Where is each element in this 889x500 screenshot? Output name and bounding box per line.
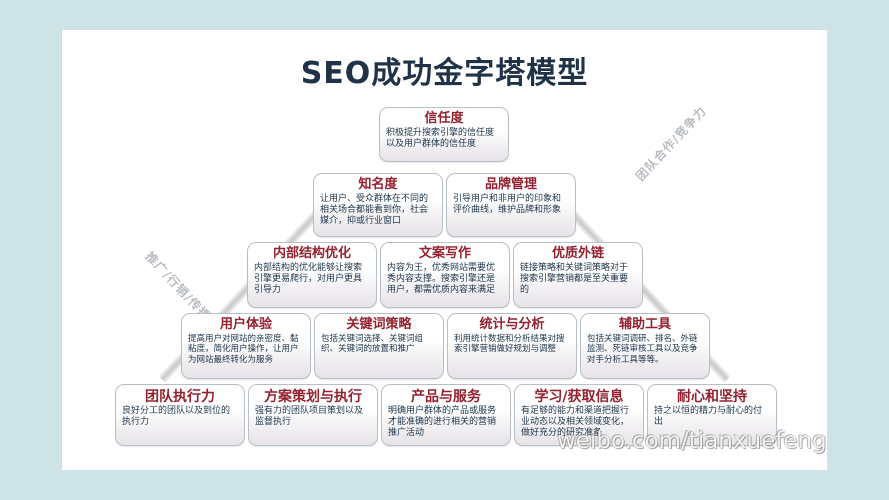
box-title: 辅助工具: [587, 318, 703, 333]
box-title: 用户体验: [188, 318, 304, 333]
box-body: 让用户、受众群体在不同的相关场合都能看到你，社会媒介，抑或行业窗口: [320, 194, 436, 227]
box-body: 包括关键词选择、关键词组织、关键词的放置和推广: [321, 334, 437, 355]
pyramid-box-copywriting[interactable]: 文案写作 内容为王，优秀网站需要优秀内容支撑。搜索引擎还是用户，都需优质内容来满…: [380, 242, 510, 308]
box-title: 文案写作: [387, 247, 503, 262]
box-title: 团队执行力: [122, 389, 238, 405]
box-body: 良好分工的团队以及到位的执行力: [122, 406, 238, 428]
slide-canvas: SEO成功金字塔模型 推广/行销/传播 团队合作/竞争力 信任度 积极提升搜索引…: [62, 30, 827, 470]
pyramid-box-statistics-analysis[interactable]: 统计与分析 利用统计数据和分析结果对搜索引擎营销做好规划与调整: [447, 313, 577, 379]
pyramid-box-quality-backlinks[interactable]: 优质外链 链接策略和关键词策略对于搜索引擎营销都是至关重要的: [513, 242, 643, 308]
box-title: 知名度: [320, 178, 436, 193]
box-body: 内容为王，优秀网站需要优秀内容支撑。搜索引擎还是用户，都需优质内容来满足: [387, 263, 503, 296]
box-body: 强有力的团队项目策划以及监督执行: [255, 406, 371, 428]
page-title: SEO成功金字塔模型: [62, 48, 827, 92]
box-title: 产品与服务: [388, 389, 504, 405]
box-title: 统计与分析: [454, 318, 570, 333]
box-title: 优质外链: [520, 247, 636, 262]
box-title: 信任度: [386, 112, 502, 127]
box-body: 有足够的能力和渠道把握行业动态以及相关领域变化，做好充分的研究准备: [521, 406, 637, 439]
pyramid-box-internal-structure[interactable]: 内部结构优化 内部结构的优化能够让搜索引擎更易爬行，对用户更具引导力: [247, 242, 377, 308]
box-body: 持之以恒的精力与耐心的付出: [654, 406, 770, 428]
box-body: 内部结构的优化能够让搜索引擎更易爬行，对用户更具引导力: [254, 263, 370, 296]
pyramid-box-team-execution[interactable]: 团队执行力 良好分工的团队以及到位的执行力: [115, 384, 245, 446]
box-title: 耐心和坚持: [654, 389, 770, 405]
pyramid-box-supporting-tools[interactable]: 辅助工具 包括关键词调研、排名、外链监测、死链审核工具以及竞争对手分析工具等等。: [580, 313, 710, 379]
pyramid-box-keyword-strategy[interactable]: 关键词策略 包括关键词选择、关键词组织、关键词的放置和推广: [314, 313, 444, 379]
box-title: 方案策划与执行: [255, 389, 371, 405]
box-body: 提高用户对网站的亲密度、黏粘度，简化用户操作，让用户为网站最终转化为服务: [188, 334, 304, 365]
pyramid-box-product-service[interactable]: 产品与服务 明确用户群体的产品或服务才能准确的进行相关的营销推广活动: [381, 384, 511, 446]
box-title: 学习/获取信息: [521, 389, 637, 405]
pyramid-box-trust[interactable]: 信任度 积极提升搜索引擎的信任度以及用户群体的信任度: [379, 107, 509, 162]
box-body: 积极提升搜索引擎的信任度以及用户群体的信任度: [386, 128, 502, 150]
box-title: 关键词策略: [321, 318, 437, 333]
box-body: 链接策略和关键词策略对于搜索引擎营销都是至关重要的: [520, 263, 636, 296]
box-body: 明确用户群体的产品或服务才能准确的进行相关的营销推广活动: [388, 406, 504, 439]
pyramid-box-brand-management[interactable]: 品牌管理 引导用户和非用户的印象和评价曲线，维护品牌和形象: [446, 173, 576, 237]
box-body: 引导用户和非用户的印象和评价曲线，维护品牌和形象: [453, 194, 569, 216]
box-body: 利用统计数据和分析结果对搜索引擎营销做好规划与调整: [454, 334, 570, 355]
pyramid-box-patience-persistence[interactable]: 耐心和坚持 持之以恒的精力与耐心的付出: [647, 384, 777, 446]
pyramid-box-user-experience[interactable]: 用户体验 提高用户对网站的亲密度、黏粘度，简化用户操作，让用户为网站最终转化为服…: [181, 313, 311, 379]
pyramid-box-plan-execution[interactable]: 方案策划与执行 强有力的团队项目策划以及监督执行: [248, 384, 378, 446]
box-body: 包括关键词调研、排名、外链监测、死链审核工具以及竞争对手分析工具等等。: [587, 334, 703, 365]
box-title: 内部结构优化: [254, 247, 370, 262]
pyramid-box-awareness[interactable]: 知名度 让用户、受众群体在不同的相关场合都能看到你，社会媒介，抑或行业窗口: [313, 173, 443, 237]
box-title: 品牌管理: [453, 178, 569, 193]
right-arrow-label: 团队合作/竞争力: [632, 102, 710, 184]
pyramid-box-learning-information[interactable]: 学习/获取信息 有足够的能力和渠道把握行业动态以及相关领域变化，做好充分的研究准…: [514, 384, 644, 446]
